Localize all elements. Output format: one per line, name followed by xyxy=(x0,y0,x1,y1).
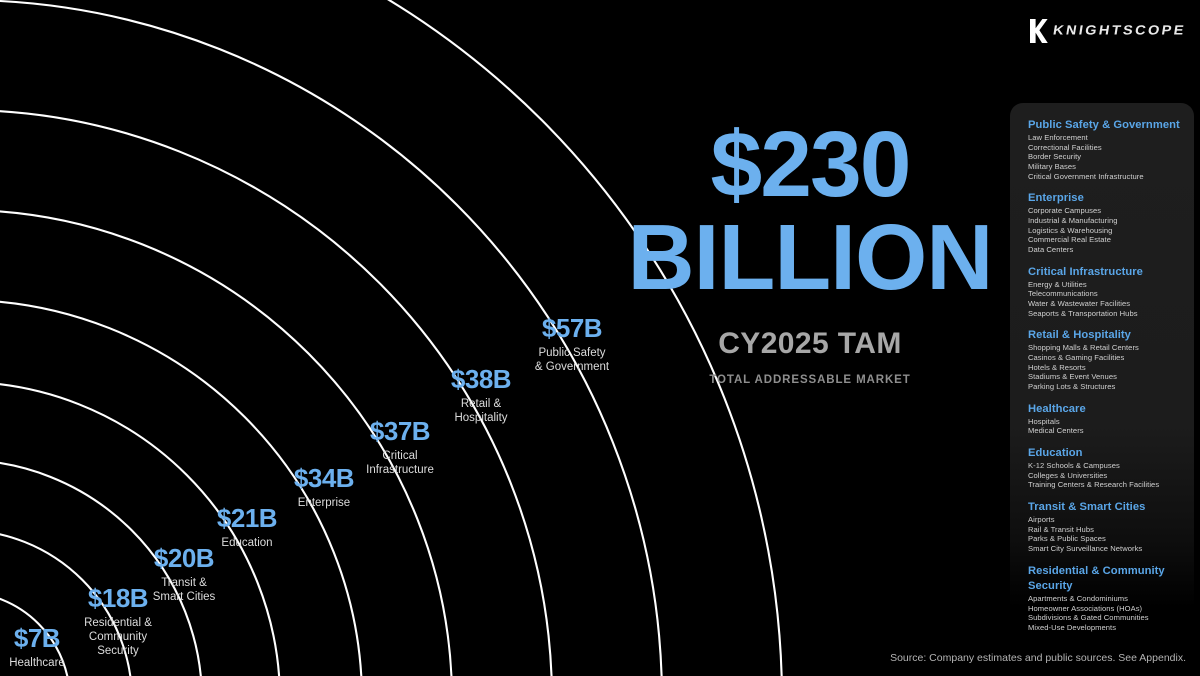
panel-category-item: Apartments & Condominiums xyxy=(1028,594,1194,604)
ring-label-public-safety-government: $57B Public Safety& Government xyxy=(505,315,639,374)
panel-category-title: Enterprise xyxy=(1028,191,1194,206)
ring-name: Healthcare xyxy=(0,656,76,670)
panel-category-item: Hospitals xyxy=(1028,417,1194,427)
panel-category-item: Homeowner Associations (HOAs) xyxy=(1028,604,1194,614)
ring-name: Public Safety& Government xyxy=(505,346,639,374)
market-category-panel: Public Safety & Government Law Enforceme… xyxy=(1010,103,1194,623)
knightscope-wordmark: KNIGHTSCOPE xyxy=(1052,24,1187,37)
panel-category-item: Casinos & Gaming Facilities xyxy=(1028,353,1194,363)
panel-category-healthcare: Healthcare Hospitals Medical Centers xyxy=(1028,402,1194,436)
panel-category-item: Law Enforcement xyxy=(1028,133,1194,143)
tam-year-label: CY2025 TAM xyxy=(590,327,1030,361)
ring-label-retail-hospitality: $38B Retail &Hospitality xyxy=(423,366,539,425)
panel-category-item: Hotels & Resorts xyxy=(1028,363,1194,373)
panel-category-item: Seaports & Transportation Hubs xyxy=(1028,309,1194,319)
panel-category-item: Correctional Facilities xyxy=(1028,143,1194,153)
panel-category-item: Shopping Malls & Retail Centers xyxy=(1028,343,1194,353)
panel-category-item: Subdivisions & Gated Communities xyxy=(1028,613,1194,623)
panel-category-retail-hospitality: Retail & Hospitality Shopping Malls & Re… xyxy=(1028,328,1194,391)
panel-category-item: Mixed-Use Developments xyxy=(1028,623,1194,633)
panel-category-item: Corporate Campuses xyxy=(1028,206,1194,216)
panel-category-item: Critical Government Infrastructure xyxy=(1028,172,1194,182)
panel-category-item: Military Bases xyxy=(1028,162,1194,172)
ring-label-education: $21B Education xyxy=(191,505,303,550)
ring-label-critical-infrastructure: $37B CriticalInfrastructure xyxy=(339,418,461,477)
tam-subtitle: TOTAL ADDRESSABLE MARKET xyxy=(590,374,1030,386)
panel-category-item: Border Security xyxy=(1028,152,1194,162)
ring-value: $57B xyxy=(505,315,639,342)
source-note: Source: Company estimates and public sou… xyxy=(890,652,1186,664)
panel-category-item: Smart City Surveillance Networks xyxy=(1028,544,1194,554)
panel-category-item: Parking Lots & Structures xyxy=(1028,382,1194,392)
panel-category-enterprise: Enterprise Corporate Campuses Industrial… xyxy=(1028,191,1194,254)
ring-name: Residential &CommunitySecurity xyxy=(62,616,174,658)
knightscope-k-mark xyxy=(1028,18,1048,44)
panel-category-item: Parks & Public Spaces xyxy=(1028,534,1194,544)
panel-category-title: Healthcare xyxy=(1028,402,1194,417)
knightscope-logo: KNIGHTSCOPE xyxy=(1028,18,1186,44)
panel-category-title: Education xyxy=(1028,446,1194,461)
panel-category-title: Residential & Community Security xyxy=(1028,564,1194,594)
tam-amount: $230 xyxy=(590,118,1030,210)
panel-category-item: Water & Wastewater Facilities xyxy=(1028,299,1194,309)
panel-category-item: Stadiums & Event Venues xyxy=(1028,372,1194,382)
panel-category-item: Energy & Utilities xyxy=(1028,280,1194,290)
panel-category-transit-smart-cities: Transit & Smart Cities Airports Rail & T… xyxy=(1028,500,1194,554)
panel-category-item: K-12 Schools & Campuses xyxy=(1028,461,1194,471)
panel-category-item: Telecommunications xyxy=(1028,289,1194,299)
panel-category-title: Transit & Smart Cities xyxy=(1028,500,1194,515)
panel-category-item: Rail & Transit Hubs xyxy=(1028,525,1194,535)
panel-category-item: Data Centers xyxy=(1028,245,1194,255)
panel-category-item: Logistics & Warehousing xyxy=(1028,226,1194,236)
panel-category-item: Medical Centers xyxy=(1028,426,1194,436)
tam-unit: BILLION xyxy=(590,210,1030,305)
panel-category-title: Retail & Hospitality xyxy=(1028,328,1194,343)
panel-category-title: Critical Infrastructure xyxy=(1028,265,1194,280)
panel-category-education: Education K-12 Schools & Campuses Colleg… xyxy=(1028,446,1194,490)
ring-name: Education xyxy=(191,536,303,550)
ring-name: Retail &Hospitality xyxy=(423,397,539,425)
panel-category-item: Training Centers & Research Facilities xyxy=(1028,480,1194,490)
ring-name: Transit &Smart Cities xyxy=(128,576,240,604)
ring-name: CriticalInfrastructure xyxy=(339,449,461,477)
panel-category-item: Commercial Real Estate xyxy=(1028,235,1194,245)
panel-category-critical-infrastructure: Critical Infrastructure Energy & Utiliti… xyxy=(1028,265,1194,319)
panel-category-title: Public Safety & Government xyxy=(1028,118,1194,133)
panel-category-residential-community-security: Residential & Community Security Apartme… xyxy=(1028,564,1194,633)
panel-category-public-safety-government: Public Safety & Government Law Enforceme… xyxy=(1028,118,1194,181)
panel-category-item: Industrial & Manufacturing xyxy=(1028,216,1194,226)
ring-label-transit-smart-cities: $20B Transit &Smart Cities xyxy=(128,545,240,604)
panel-category-item: Colleges & Universities xyxy=(1028,471,1194,481)
panel-category-item: Airports xyxy=(1028,515,1194,525)
ring-name: Enterprise xyxy=(263,496,385,510)
tam-headline: $230 BILLION CY2025 TAM TOTAL ADDRESSABL… xyxy=(590,118,1030,386)
